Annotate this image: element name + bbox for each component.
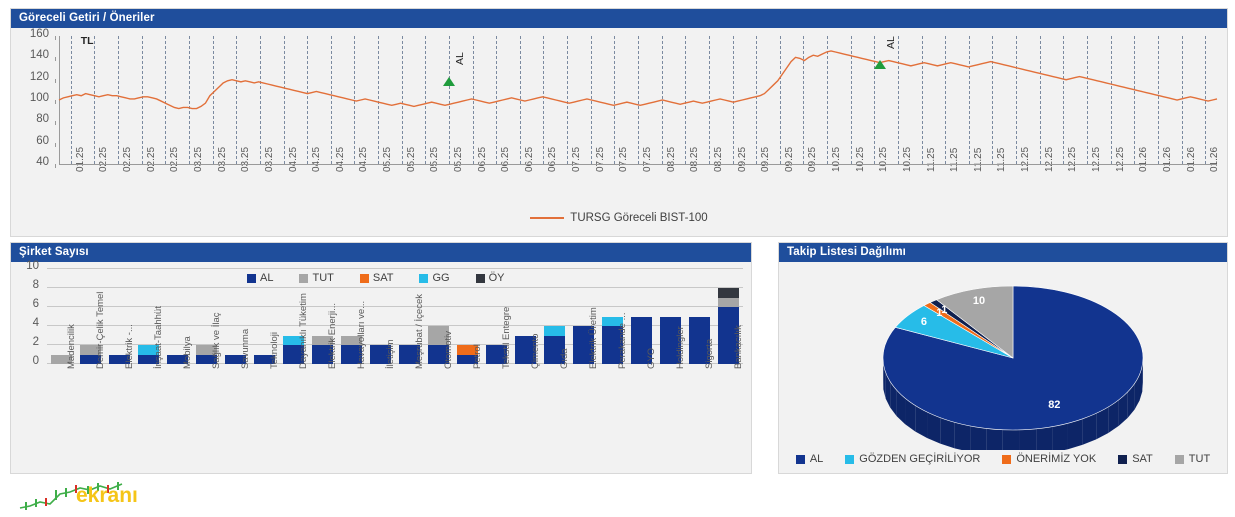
- legend-item: SAT: [360, 272, 394, 284]
- legend-label: AL: [260, 272, 273, 284]
- watchlist-legend: ALGÖZDEN GEÇİRİLİYORÖNERİMİZ YOKSATTUT: [779, 450, 1227, 468]
- company-count-panel: Şirket Sayısı 0246810MadencilikDemir-Çel…: [10, 242, 752, 474]
- legend-label: ÖY: [489, 272, 505, 284]
- company-count-title: Şirket Sayısı: [11, 243, 751, 262]
- annotation-tl: TL: [81, 35, 94, 47]
- y-gridline: [47, 306, 743, 307]
- legend-item: ÖNERİMİZ YOK: [1002, 453, 1096, 465]
- bar-category-label: Sigorta: [704, 339, 715, 369]
- relative-performance-plot: 40608010012014016001.2502.2502.2502.2502…: [11, 28, 1227, 235]
- legend-color-swatch: [299, 274, 308, 283]
- watermark: ekranı: [18, 480, 188, 514]
- legend-item: TUT: [299, 272, 333, 284]
- bar-category-label: Savunma: [240, 329, 251, 369]
- pie-value-label: 6: [921, 316, 927, 328]
- annotation-al: AL: [454, 52, 466, 65]
- y-axis-label: 10: [11, 260, 39, 272]
- y-axis-label: 2: [11, 336, 39, 348]
- bar-category-label: Petrol: [472, 344, 483, 369]
- bar-category-label: İnşaat-Taahhüt: [153, 306, 164, 369]
- legend-item: GG: [419, 272, 449, 284]
- bar-category-label: Elektrik -...: [124, 324, 135, 369]
- bar-category-label: Perakande ...: [617, 312, 628, 369]
- relative-performance-legend: TURSG Göreceli BIST-100: [11, 212, 1227, 224]
- bar-category-label: Teknoloji: [269, 332, 280, 369]
- y-axis-label: 6: [11, 298, 39, 310]
- pie-value-label: 82: [1048, 399, 1060, 411]
- y-axis-label: 8: [11, 279, 39, 291]
- legend-label: GG: [432, 272, 449, 284]
- bar-category-label: Sağlık ve İlaç: [211, 313, 222, 370]
- watermark-text: ekranı: [76, 484, 138, 508]
- y-gridline: [47, 268, 743, 269]
- legend-label: GÖZDEN GEÇİRİLİYOR: [859, 453, 980, 465]
- bar-category-label: Otomotiv: [443, 331, 454, 369]
- legend-color-swatch: [247, 274, 256, 283]
- company-count-plot: 0246810MadencilikDemir-Çelik TemelElektr…: [11, 262, 751, 472]
- legend-item: SAT: [1118, 453, 1153, 465]
- bar-category-label: Elektrik Enerji...: [327, 303, 338, 369]
- legend-item: TUT: [1175, 453, 1210, 465]
- bar-category-label: Tekstil Entegre: [501, 307, 512, 369]
- legend-color-swatch: [1175, 455, 1184, 464]
- legend-line-swatch: [530, 217, 564, 219]
- legend-label: AL: [810, 453, 823, 465]
- bar-category-label: Havayolları ve...: [356, 301, 367, 369]
- y-axis-label: 0: [11, 355, 39, 367]
- legend-item: AL: [796, 453, 823, 465]
- legend-label: ÖNERİMİZ YOK: [1016, 453, 1096, 465]
- legend-color-swatch: [360, 274, 369, 283]
- bar-segment-gg: [544, 326, 565, 336]
- pie-chart: [779, 262, 1227, 471]
- watchlist-distribution-plot: 8261110ALGÖZDEN GEÇİRİLİYORÖNERİMİZ YOKS…: [779, 262, 1227, 472]
- bar-category-label: Holdingler: [675, 326, 686, 369]
- legend-item: GÖZDEN GEÇİRİLİYOR: [845, 453, 980, 465]
- legend-color-swatch: [1118, 455, 1127, 464]
- legend-item: TURSG Göreceli BIST-100: [530, 212, 707, 224]
- legend-label: SAT: [373, 272, 394, 284]
- legend-item: ÖY: [476, 272, 505, 284]
- legend-color-swatch: [476, 274, 485, 283]
- company-count-legend: ALTUTSATGGÖY: [247, 272, 530, 284]
- relative-performance-panel: Göreceli Getiri / Öneriler 4060801001201…: [10, 8, 1228, 237]
- bar-category-label: GYO: [646, 348, 657, 369]
- bar-category-label: Meşrubat / İçecek: [414, 294, 425, 369]
- relative-performance-title: Göreceli Getiri / Öneriler: [11, 9, 1227, 28]
- legend-label: TUT: [1189, 453, 1210, 465]
- bar-category-label: Madencilik: [66, 324, 77, 369]
- y-axis-label: 4: [11, 317, 39, 329]
- bar-category-label: Gıda: [559, 348, 570, 369]
- bar-category-label: Çimento: [530, 334, 541, 369]
- legend-label: SAT: [1132, 453, 1153, 465]
- legend-color-swatch: [796, 455, 805, 464]
- pie-slice-side: [940, 418, 954, 449]
- legend-color-swatch: [1002, 455, 1011, 464]
- pie-value-label: 10: [973, 295, 985, 307]
- bar-category-label: İletişim: [385, 339, 396, 369]
- bar-category-label: Dayanıklı Tüketim: [298, 293, 309, 369]
- buy-signal-marker: [874, 60, 886, 69]
- bar-category-label: Bankacılık: [733, 325, 744, 369]
- legend-color-swatch: [419, 274, 428, 283]
- annotation-al: AL: [885, 36, 897, 49]
- bar-segment-öy: [718, 288, 739, 298]
- buy-signal-marker: [443, 77, 455, 86]
- pie-slice-side: [1068, 419, 1083, 449]
- watchlist-distribution-title: Takip Listesi Dağılımı: [779, 243, 1227, 262]
- watchlist-distribution-panel: Takip Listesi Dağılımı 8261110ALGÖZDEN G…: [778, 242, 1228, 474]
- pie-value-label: 1: [941, 304, 947, 316]
- legend-color-swatch: [845, 455, 854, 464]
- pie-slice-side: [955, 422, 970, 452]
- legend-item: AL: [247, 272, 273, 284]
- bar-category-label: Mobilya: [182, 336, 193, 369]
- bar-category-label: Demir-Çelik Temel: [95, 292, 106, 369]
- bar-category-label: Elektrik Üretim: [588, 307, 599, 369]
- pie-slice-side: [1052, 423, 1068, 452]
- y-gridline: [47, 287, 743, 288]
- relative-performance-series: [11, 28, 1227, 234]
- legend-label: TUT: [312, 272, 333, 284]
- legend-label: TURSG Göreceli BIST-100: [570, 212, 707, 224]
- bar-segment-tut: [718, 298, 739, 308]
